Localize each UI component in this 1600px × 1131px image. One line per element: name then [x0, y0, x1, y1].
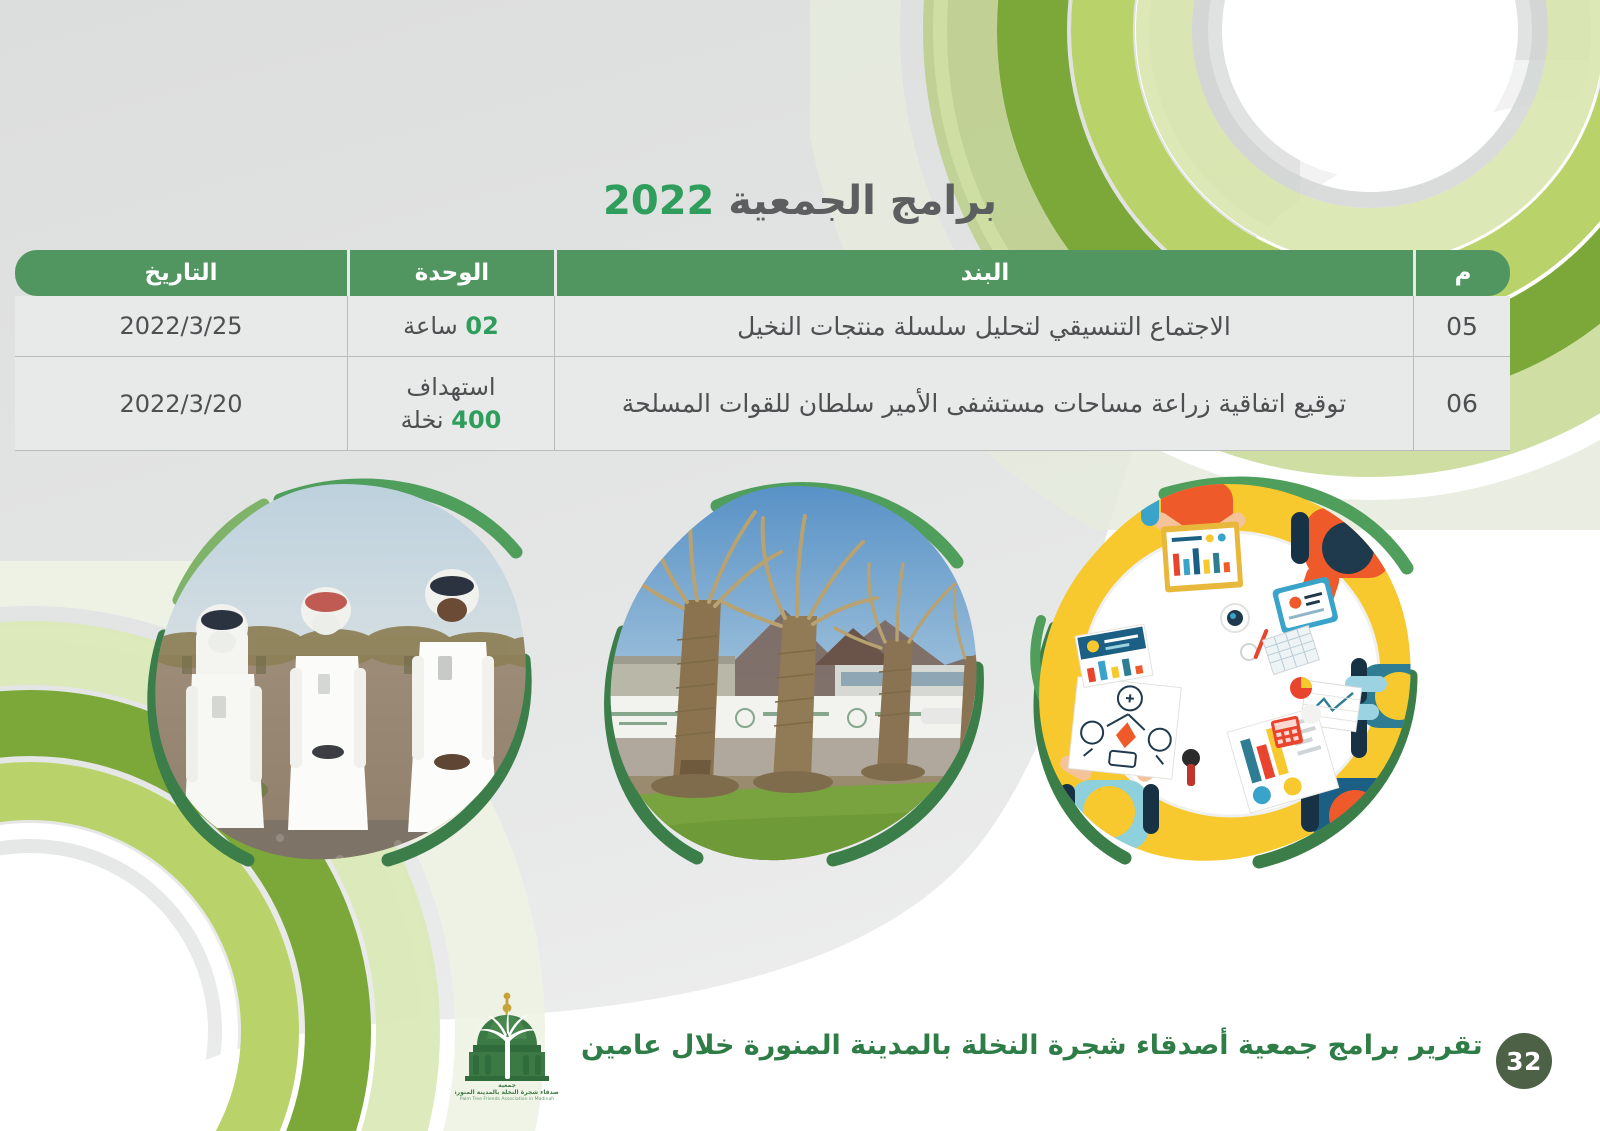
page-number-badge: 32 — [1496, 1033, 1552, 1089]
logo-caption-english: Palm Tree Friends Association in Madinah — [460, 1096, 555, 1101]
cell-item: الاجتماع التنسيقي لتحليل سلسلة منتجات ال… — [554, 296, 1413, 357]
cell-unit-value: 02 — [465, 312, 498, 340]
table-header-row: م البند الوحدة التاريخ — [15, 250, 1510, 296]
page-title: برامج الجمعية 2022 — [603, 178, 997, 224]
logo-caption-arabic-2: أصدقاء شجرة النخلة بالمدينة المنورة — [455, 1088, 559, 1096]
column-header-item: البند — [554, 250, 1413, 296]
table-head: م البند الوحدة التاريخ — [15, 250, 1510, 296]
cell-date: 2022/3/25 — [15, 296, 347, 357]
cell-unit: 02 ساعة — [347, 296, 554, 357]
association-logo-icon: جمعية أصدقاء شجرة النخلة بالمدينة المنور… — [455, 989, 559, 1101]
programs-table: م البند الوحدة التاريخ 05 الاجتماع التنس… — [15, 250, 1510, 451]
cell-unit-label: ساعة — [403, 312, 458, 340]
photo-card-transplanted-palms[interactable] — [585, 460, 1005, 880]
slide-canvas: برامج الجمعية 2022 م البند الوحدة التاري… — [0, 0, 1600, 1131]
table-row: 06 توقيع اتفاقية زراعة مساحات مستشفى الأ… — [15, 357, 1510, 451]
footer: جمعية أصدقاء شجرة النخلة بالمدينة المنور… — [0, 987, 1600, 1107]
cell-number: 06 — [1413, 357, 1510, 451]
cell-unit-line2: استهداف — [406, 373, 495, 401]
photo-card-meeting-illustration[interactable] — [1015, 460, 1435, 880]
cell-date: 2022/3/20 — [15, 357, 347, 451]
table-row: 05 الاجتماع التنسيقي لتحليل سلسلة منتجات… — [15, 296, 1510, 357]
footer-report-title: تقرير برامج جمعية أصدقاء شجرة النخلة بال… — [581, 1030, 1483, 1061]
page-title-wrapper: برامج الجمعية 2022 — [0, 178, 1600, 224]
page-title-year: 2022 — [603, 178, 714, 224]
cell-unit: استهداف 400 نخلة — [347, 357, 554, 451]
footer-brand-block: جمعية أصدقاء شجرة النخلة بالمدينة المنور… — [455, 989, 1483, 1101]
logo-caption-arabic-1: جمعية — [498, 1082, 516, 1089]
photo-card-site-visit[interactable] — [130, 460, 550, 880]
cell-item: توقيع اتفاقية زراعة مساحات مستشفى الأمير… — [554, 357, 1413, 451]
photo-gallery — [0, 452, 1600, 872]
programs-table-wrapper: م البند الوحدة التاريخ 05 الاجتماع التنس… — [88, 250, 1510, 451]
table-body: 05 الاجتماع التنسيقي لتحليل سلسلة منتجات… — [15, 296, 1510, 451]
page-title-main: برامج الجمعية — [728, 178, 997, 224]
cell-unit-label: نخلة — [401, 406, 444, 434]
cell-number: 05 — [1413, 296, 1510, 357]
column-header-date: التاريخ — [15, 250, 347, 296]
column-header-number: م — [1413, 250, 1510, 296]
logo-finial — [503, 993, 512, 1016]
column-header-unit: الوحدة — [347, 250, 554, 296]
cell-unit-value: 400 — [451, 406, 501, 434]
